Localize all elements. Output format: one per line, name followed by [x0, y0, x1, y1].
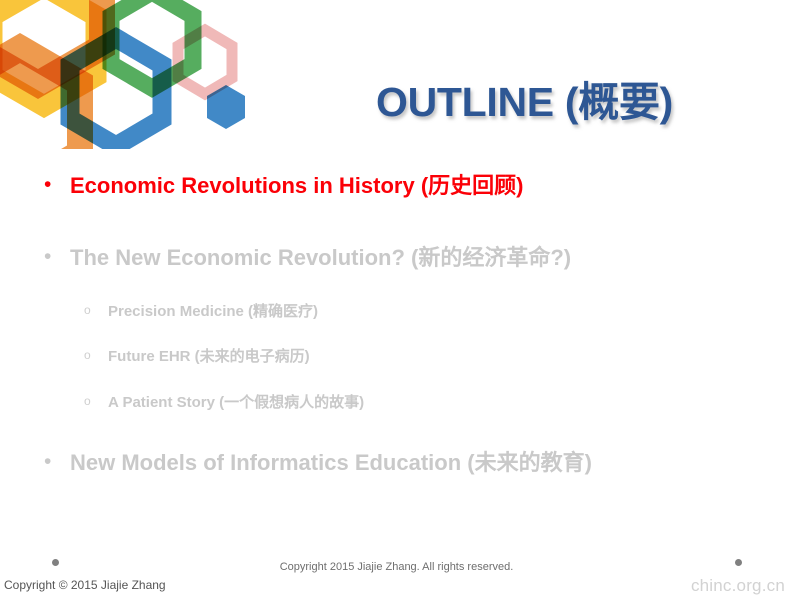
hexagon-green-icon [111, 0, 193, 88]
hexagon-blue-solid-icon [207, 85, 245, 129]
list-item[interactable]: • New Models of Informatics Education (未… [44, 445, 592, 477]
list-item-label: The New Economic Revolution? (新的经济革命?) [70, 240, 571, 272]
list-item-label: Precision Medicine (精确医疗) [108, 300, 318, 321]
footer-copyright-left: Copyright © 2015 Jiajie Zhang [4, 578, 166, 592]
list-item[interactable]: o Future EHR (未来的电子病历) [84, 345, 310, 366]
list-item[interactable]: o A Patient Story (一个假想病人的故事) [84, 391, 364, 412]
bullet-circle-icon: o [84, 304, 108, 316]
slide-canvas: OUTLINE (概要) • Economic Revolutions in H… [0, 0, 793, 595]
list-item-label: Economic Revolutions in History (历史回顾) [70, 168, 523, 200]
hexagon-yellow-icon [0, 0, 96, 106]
list-item-label: Future EHR (未来的电子病历) [108, 345, 310, 366]
bullet-circle-icon: o [84, 395, 108, 407]
list-item[interactable]: • The New Economic Revolution? (新的经济革命?) [44, 240, 571, 272]
list-item-label: A Patient Story (一个假想病人的故事) [108, 391, 364, 412]
bullet-dot-icon: • [44, 174, 70, 195]
hexagon-pink-icon [178, 30, 232, 94]
bullet-dot-icon: • [44, 451, 70, 472]
list-item[interactable]: • Economic Revolutions in History (历史回顾) [44, 168, 523, 200]
footer-copyright-center: Copyright 2015 Jiajie Zhang. All rights … [0, 561, 793, 573]
hexagon-cluster-logo [0, 0, 292, 149]
list-item-label: New Models of Informatics Education (未来的… [70, 445, 592, 477]
hexagon-orange-icon [0, 0, 102, 84]
bullet-dot-icon: • [44, 246, 70, 267]
hexagon-orange-lower-icon [0, 48, 80, 149]
list-item[interactable]: o Precision Medicine (精确医疗) [84, 300, 318, 321]
hexagon-blue-icon [70, 38, 162, 146]
footer-website-label: chinc.org.cn [691, 576, 785, 595]
bullet-circle-icon: o [84, 349, 108, 361]
page-title: OUTLINE (概要) [376, 68, 673, 128]
